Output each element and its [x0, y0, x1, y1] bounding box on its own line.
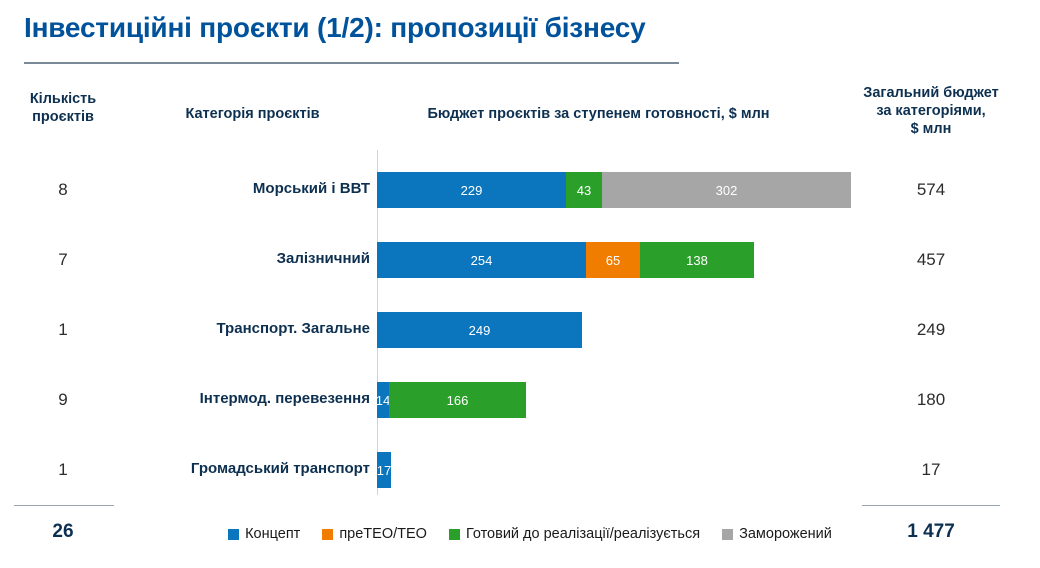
stacked-bar: 249 — [377, 312, 582, 348]
bar-segment[interactable]: 43 — [566, 172, 602, 208]
column-header-total-line1: Загальний бюджет — [836, 84, 1026, 102]
page-title: Інвестиційні проєкти (1/2): пропозиції б… — [24, 12, 645, 44]
bar-segment[interactable]: 138 — [640, 242, 754, 278]
bar-segment[interactable]: 17 — [377, 452, 391, 488]
total-project-count: 26 — [8, 521, 118, 543]
legend-label: Заморожений — [739, 526, 832, 542]
stacked-bar: 22943302 — [377, 172, 851, 208]
legend-swatch-icon — [228, 529, 239, 540]
bar-segment[interactable]: 229 — [377, 172, 566, 208]
row-category-label: Залізничний — [130, 250, 370, 267]
legend-swatch-icon — [722, 529, 733, 540]
column-header-count: Кількість проєктів — [8, 90, 118, 126]
bar-segment[interactable]: 14 — [377, 382, 389, 418]
title-divider — [24, 62, 679, 64]
bar-segment-value: 254 — [471, 253, 493, 268]
bar-segment-value: 17 — [377, 463, 391, 478]
budget-total-divider — [862, 505, 1000, 506]
row-project-count: 9 — [8, 390, 118, 410]
count-total-divider — [14, 505, 114, 506]
bar-segment[interactable]: 254 — [377, 242, 586, 278]
bar-segment-value: 43 — [577, 183, 591, 198]
row-budget-total: 457 — [836, 250, 1026, 270]
chart-row: 9Інтермод. перевезення14166180 — [0, 368, 1040, 438]
bar-segment-value: 65 — [606, 253, 620, 268]
bar-segment-value: 166 — [447, 393, 469, 408]
column-header-budget: Бюджет проєктів за ступенем готовності, … — [376, 105, 821, 123]
stacked-bar: 25465138 — [377, 242, 754, 278]
row-budget-total: 17 — [836, 460, 1026, 480]
column-header-total-line3: $ млн — [836, 120, 1026, 138]
legend-item[interactable]: Готовий до реалізації/реалізується — [449, 526, 700, 542]
legend-item[interactable]: Концепт — [228, 526, 300, 542]
column-header-category: Категорія проєктів — [130, 105, 375, 123]
column-header-total: Загальний бюджет за категоріями, $ млн — [836, 84, 1026, 138]
bar-segment[interactable]: 302 — [602, 172, 851, 208]
legend-item[interactable]: преТЕО/ТЕО — [322, 526, 427, 542]
row-budget-total: 249 — [836, 320, 1026, 340]
bar-segment[interactable]: 166 — [389, 382, 526, 418]
row-project-count: 1 — [8, 320, 118, 340]
legend-swatch-icon — [449, 529, 460, 540]
row-category-label: Інтермод. перевезення — [130, 390, 370, 407]
column-header-count-line1: Кількість — [8, 90, 118, 108]
row-budget-total: 574 — [836, 180, 1026, 200]
row-budget-total: 180 — [836, 390, 1026, 410]
row-project-count: 7 — [8, 250, 118, 270]
bar-segment-value: 138 — [686, 253, 708, 268]
column-header-count-line2: проєктів — [8, 108, 118, 126]
chart-legend: КонцептпреТЕО/ТЕОГотовий до реалізації/р… — [200, 526, 860, 542]
legend-label: преТЕО/ТЕО — [339, 526, 427, 542]
chart-row: 1Транспорт. Загальне249249 — [0, 298, 1040, 368]
stacked-bar: 17 — [377, 452, 391, 488]
stacked-bar: 14166 — [377, 382, 526, 418]
bar-segment-value: 302 — [716, 183, 738, 198]
legend-label: Готовий до реалізації/реалізується — [466, 526, 700, 542]
legend-item[interactable]: Заморожений — [722, 526, 832, 542]
chart-row: 7Залізничний25465138457 — [0, 228, 1040, 298]
bar-segment-value: 14 — [377, 393, 389, 408]
bar-segment[interactable]: 65 — [586, 242, 640, 278]
bar-segment-value: 249 — [469, 323, 491, 338]
chart-row: 8Морський і ВВТ22943302574 — [0, 158, 1040, 228]
row-category-label: Громадський транспорт — [130, 460, 370, 477]
chart-row: 1Громадський транспорт1717 — [0, 438, 1040, 508]
row-project-count: 8 — [8, 180, 118, 200]
bar-segment[interactable]: 249 — [377, 312, 582, 348]
row-category-label: Морський і ВВТ — [130, 180, 370, 197]
column-header-total-line2: за категоріями, — [836, 102, 1026, 120]
legend-swatch-icon — [322, 529, 333, 540]
bar-segment-value: 229 — [461, 183, 483, 198]
total-budget: 1 477 — [836, 521, 1026, 543]
legend-label: Концепт — [245, 526, 300, 542]
row-category-label: Транспорт. Загальне — [130, 320, 370, 337]
row-project-count: 1 — [8, 460, 118, 480]
